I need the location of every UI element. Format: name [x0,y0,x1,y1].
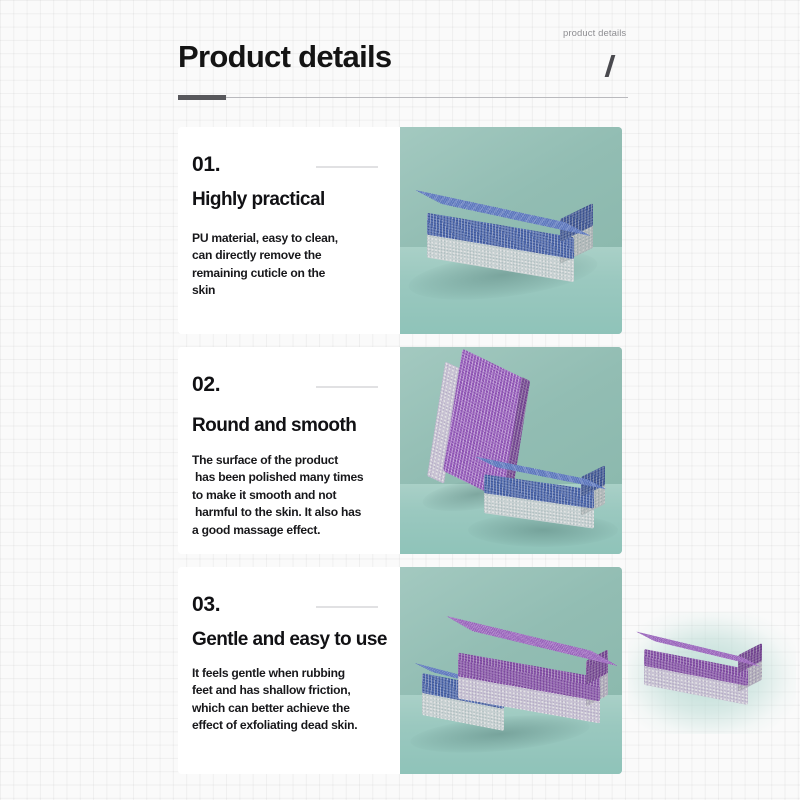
feature-body-line: harmful to the skin. It also has [195,504,392,521]
feature-card: 03. Gentle and easy to use It feels gent… [178,567,622,774]
feature-body-line: PU material, easy to clean, [192,230,392,247]
feature-body-line: feet and has shallow friction, [192,682,392,699]
feature-body-line: effect of exfoliating dead skin. [192,717,392,734]
feature-body: It feels gentle when rubbing feet and ha… [192,665,392,735]
feature-body: The surface of the product has been poli… [192,452,392,539]
slash-icon [605,55,615,77]
page-title: Product details [178,39,391,75]
feature-body-line: skin [192,282,392,299]
feature-number-rule [316,386,378,388]
feature-photo [400,567,622,774]
feature-body-line: remaining cuticle on the [192,265,392,282]
feature-text-pane: 01. Highly practical PU material, easy t… [178,127,400,334]
feature-body-line: has been polished many times [195,469,392,486]
feature-heading: Highly practical [192,189,325,211]
feature-number: 01. [192,153,220,177]
feature-photo [400,127,622,334]
feature-body-line: can directly remove the [192,247,392,264]
feature-text-pane: 02. Round and smooth The surface of the … [178,347,400,554]
feature-heading: Gentle and easy to use [192,629,387,651]
corner-label: product details [563,28,626,39]
feature-number: 02. [192,373,220,397]
feature-body-line: The surface of the product [192,452,392,469]
floating-product [628,612,796,734]
header-divider [178,97,628,98]
feature-body-line: It feels gentle when rubbing [192,665,392,682]
feature-body-line: a good massage effect. [192,522,392,539]
feature-body-line: which can better achieve the [192,700,392,717]
feature-text-pane: 03. Gentle and easy to use It feels gent… [178,567,400,774]
feature-number-row: 03. [192,593,386,615]
feature-number-row: 01. [192,153,386,175]
feature-photo [400,347,622,554]
feature-body: PU material, easy to clean, can directly… [192,230,392,300]
feature-number: 03. [192,593,220,617]
feature-number-row: 02. [192,373,386,395]
feature-body-line: to make it smooth and not [192,487,392,504]
feature-card: 02. Round and smooth The surface of the … [178,347,622,554]
page-header: Product details product details [178,22,628,112]
feature-heading: Round and smooth [192,415,356,437]
feature-number-rule [316,166,378,168]
header-divider-accent [178,95,226,100]
feature-card: 01. Highly practical PU material, easy t… [178,127,622,334]
feature-number-rule [316,606,378,608]
